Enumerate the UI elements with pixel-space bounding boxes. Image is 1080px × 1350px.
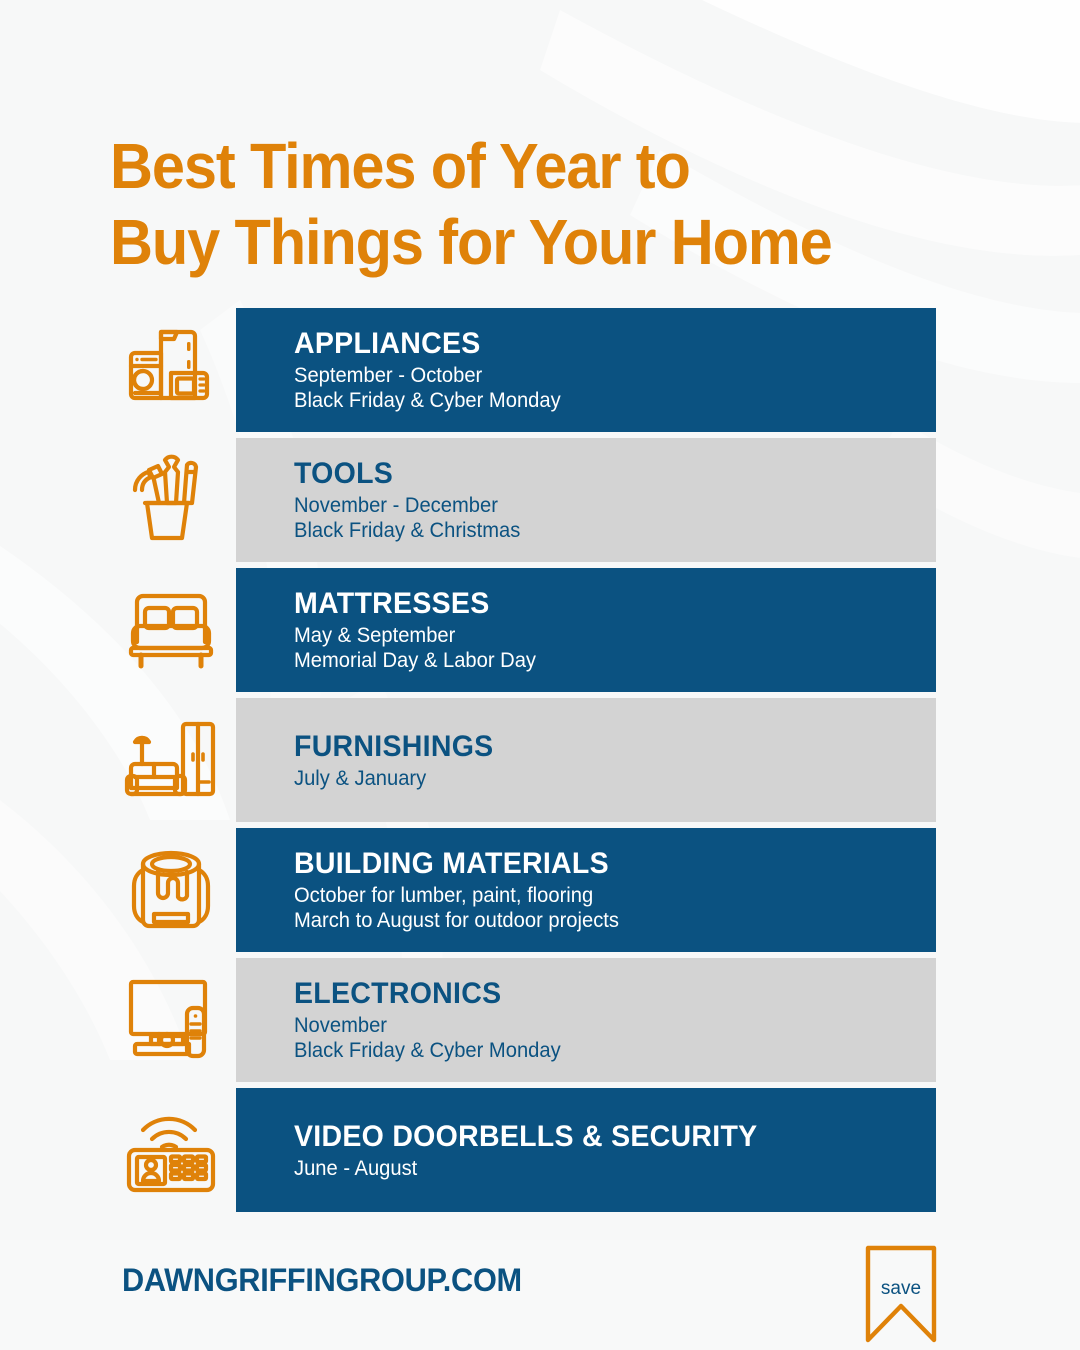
category-sub-2: Memorial Day & Labor Day <box>294 648 910 673</box>
furnishings-icon <box>112 698 230 822</box>
list-item: TOOLS November - December Black Friday &… <box>0 438 1080 562</box>
category-bar: TOOLS November - December Black Friday &… <box>236 438 936 562</box>
category-title: MATTRESSES <box>294 587 904 621</box>
appliances-icon <box>112 308 230 432</box>
category-bar: BUILDING MATERIALS October for lumber, p… <box>236 828 936 952</box>
footer: DAWNGRIFFINGROUP.COM save <box>0 1240 1080 1350</box>
list-item: VIDEO DOORBELLS & SECURITY June - August <box>0 1088 1080 1212</box>
list-item: FURNISHINGS July & January <box>0 698 1080 822</box>
mattress-icon <box>112 568 230 692</box>
list-item: APPLIANCES September - October Black Fri… <box>0 308 1080 432</box>
list-item: MATTRESSES May & September Memorial Day … <box>0 568 1080 692</box>
paint-can-icon <box>112 828 230 952</box>
category-sub-1: May & September <box>294 623 910 648</box>
category-list: APPLIANCES September - October Black Fri… <box>0 308 1080 1218</box>
category-sub-1: November - December <box>294 493 910 518</box>
category-sub-2: Black Friday & Christmas <box>294 518 910 543</box>
category-sub-2: March to August for outdoor projects <box>294 908 910 933</box>
category-title: TOOLS <box>294 457 904 491</box>
category-sub-1: July & January <box>294 766 910 791</box>
category-bar: ELECTRONICS November Black Friday & Cybe… <box>236 958 936 1082</box>
category-title: FURNISHINGS <box>294 730 904 764</box>
category-sub-2: Black Friday & Cyber Monday <box>294 1038 910 1063</box>
category-sub-2: Black Friday & Cyber Monday <box>294 388 910 413</box>
website-url[interactable]: DAWNGRIFFINGROUP.COM <box>122 1262 522 1299</box>
save-label: save <box>864 1278 938 1300</box>
category-sub-1: October for lumber, paint, flooring <box>294 883 910 908</box>
television-icon <box>112 958 230 1082</box>
title-line-2: Buy Things for Your Home <box>110 204 928 280</box>
category-bar: APPLIANCES September - October Black Fri… <box>236 308 936 432</box>
category-bar: MATTRESSES May & September Memorial Day … <box>236 568 936 692</box>
category-sub-1: September - October <box>294 363 910 388</box>
category-bar: VIDEO DOORBELLS & SECURITY June - August <box>236 1088 936 1212</box>
page-title: Best Times of Year to Buy Things for You… <box>110 128 990 280</box>
list-item: BUILDING MATERIALS October for lumber, p… <box>0 828 1080 952</box>
category-title: APPLIANCES <box>294 327 904 361</box>
category-title: ELECTRONICS <box>294 977 904 1011</box>
video-doorbell-icon <box>112 1088 230 1212</box>
category-sub-1: June - August <box>294 1156 910 1181</box>
list-item: ELECTRONICS November Black Friday & Cybe… <box>0 958 1080 1082</box>
category-bar: FURNISHINGS July & January <box>236 698 936 822</box>
category-title: BUILDING MATERIALS <box>294 847 904 881</box>
category-sub-1: November <box>294 1013 910 1038</box>
tools-icon <box>112 438 230 562</box>
title-line-1: Best Times of Year to <box>110 128 928 204</box>
category-title: VIDEO DOORBELLS & SECURITY <box>294 1120 904 1154</box>
